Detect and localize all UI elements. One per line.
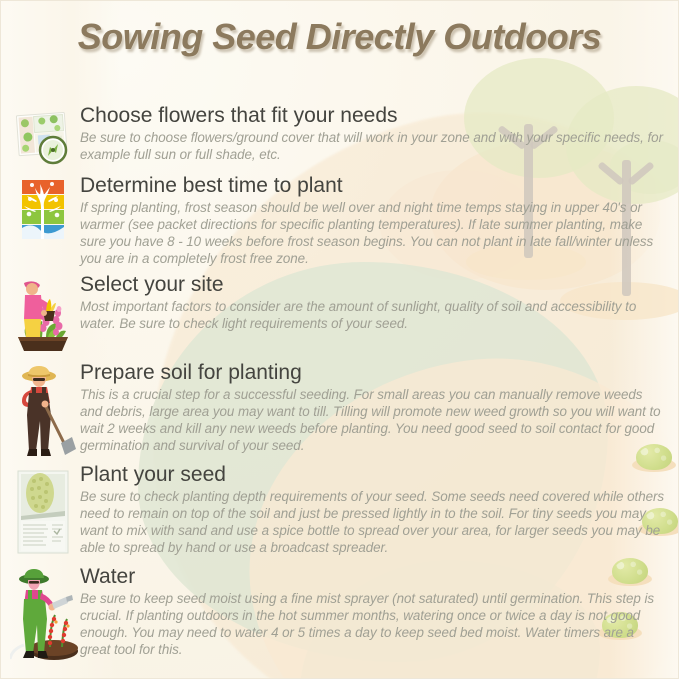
step-description: If spring planting, frost season should … (80, 199, 665, 268)
infographic-poster: Sowing Seed Directly Outdoors (0, 0, 679, 679)
step-text: Plant your seed Be sure to check plantin… (76, 463, 665, 556)
step-item: Plant your seed Be sure to check plantin… (0, 463, 679, 559)
seed-packet-icon (10, 467, 76, 559)
step-item: Prepare soil for planting This is a cruc… (0, 361, 679, 459)
four-seasons-tree-icon (10, 178, 76, 244)
step-description: Most important factors to consider are t… (80, 298, 665, 332)
step-item: Water Be sure to keep seed moist using a… (0, 565, 679, 663)
step-text: Choose flowers that fit your needs Be su… (76, 104, 665, 163)
garden-plan-compass-icon (10, 108, 76, 168)
step-title: Water (80, 565, 665, 589)
step-description: This is a crucial step for a successful … (80, 386, 665, 455)
step-text: Water Be sure to keep seed moist using a… (76, 565, 665, 658)
step-text: Prepare soil for planting This is a cruc… (76, 361, 665, 454)
step-description: Be sure to check planting depth requirem… (80, 488, 665, 557)
step-title: Plant your seed (80, 463, 665, 487)
step-text: Select your site Most important factors … (76, 273, 665, 332)
step-description: Be sure to keep seed moist using a fine … (80, 590, 665, 659)
step-title: Determine best time to plant (80, 174, 665, 198)
gardener-with-shovel-icon (10, 363, 76, 459)
steps-list: Choose flowers that fit your needs Be su… (0, 104, 679, 663)
step-item: Determine best time to plant If spring p… (0, 174, 679, 267)
step-item: Select your site Most important factors … (0, 273, 679, 357)
gardener-planting-flowers-icon (10, 275, 76, 357)
step-description: Be sure to choose flowers/ground cover t… (80, 129, 665, 163)
step-title: Prepare soil for planting (80, 361, 665, 385)
step-title: Select your site (80, 273, 665, 297)
gardener-watering-icon (10, 567, 76, 663)
step-item: Choose flowers that fit your needs Be su… (0, 104, 679, 168)
step-title: Choose flowers that fit your needs (80, 104, 665, 128)
step-text: Determine best time to plant If spring p… (76, 174, 665, 267)
page-title: Sowing Seed Directly Outdoors (0, 16, 679, 58)
